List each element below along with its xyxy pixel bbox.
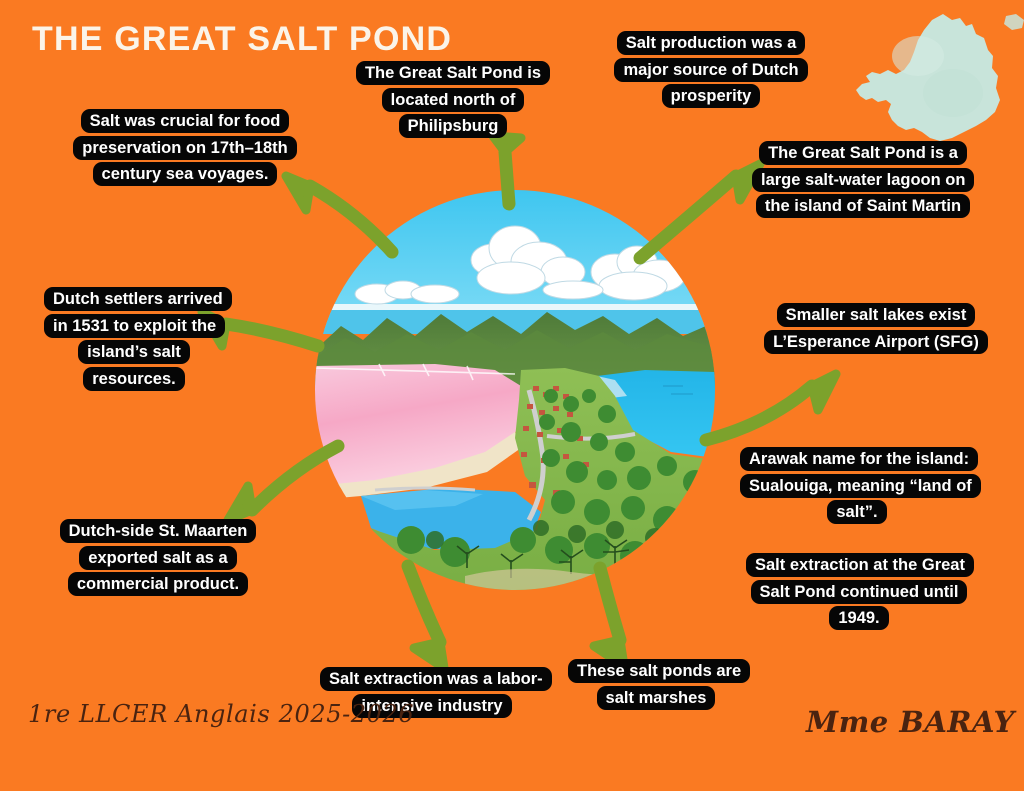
label-arawak-name[interactable]: Arawak name for the island: Sualouiga, m…: [740, 446, 974, 526]
label-saltwater-lagoon[interactable]: The Great Salt Pond is a large salt-wate…: [752, 140, 974, 220]
teacher-signature: Mme BARAY: [806, 705, 1015, 739]
label-extraction-until-1949[interactable]: Salt extraction at the Great Salt Pond c…: [746, 552, 972, 632]
saint-martin-island-map-icon: [848, 8, 1024, 148]
infographic-canvas: THE GREAT SALT POND: [0, 0, 1024, 791]
course-signature: 1re LLCER Anglais 2025-2026: [28, 700, 414, 728]
label-commercial-export[interactable]: Dutch-side St. Maarten exported salt as …: [40, 518, 276, 598]
label-food-preservation[interactable]: Salt was crucial for food preservation o…: [70, 108, 300, 188]
label-north-of-philipsburg[interactable]: The Great Salt Pond is located north of …: [348, 60, 558, 140]
page-title: THE GREAT SALT POND: [32, 22, 452, 56]
label-salt-marshes[interactable]: These salt ponds are salt marshes: [568, 658, 744, 711]
label-smaller-salt-lakes[interactable]: Smaller salt lakes exist L’Esperance Air…: [758, 302, 994, 355]
great-salt-pond-photo: [315, 190, 715, 590]
label-dutch-prosperity[interactable]: Salt production was a major source of Du…: [598, 30, 824, 110]
label-dutch-settlers-1531[interactable]: Dutch settlers arrived in 1531 to exploi…: [44, 286, 224, 393]
